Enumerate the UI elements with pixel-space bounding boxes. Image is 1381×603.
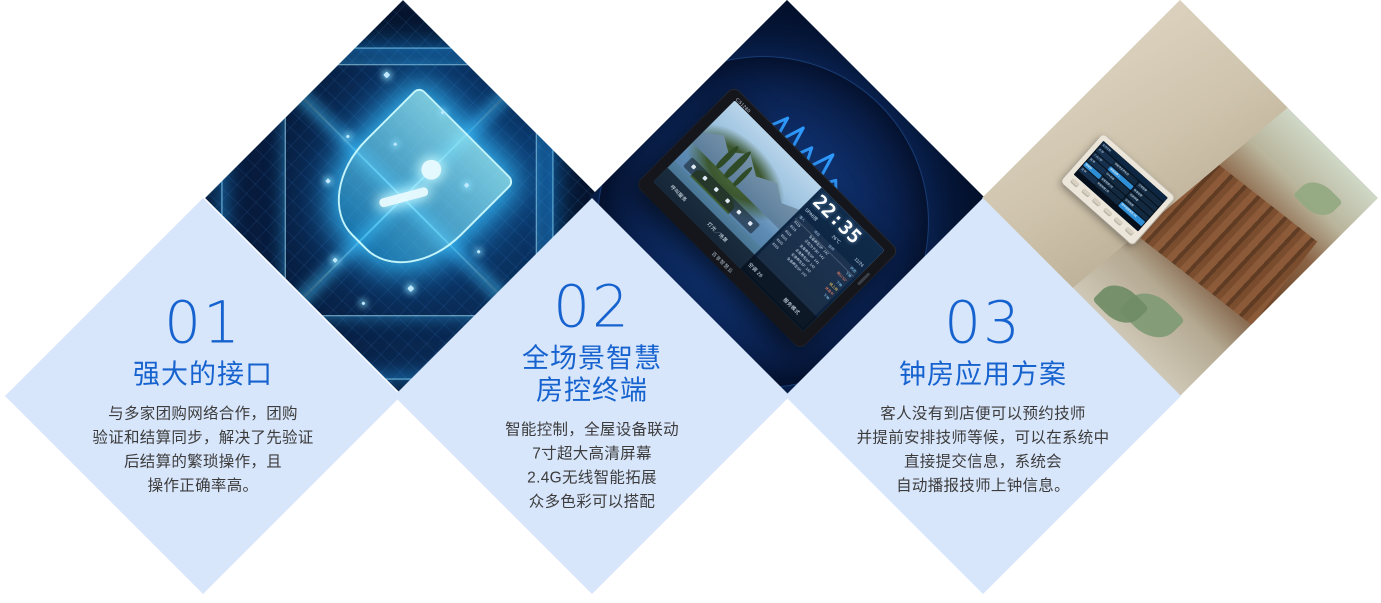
body-line: 7寸超大高清屏幕 <box>427 442 757 466</box>
panel-body-03: 客人没有到店便可以预约技师 并提前安排技师等候，可以在系统中 直接提交信息，系统… <box>818 402 1148 498</box>
body-line: 验证和结算同步，解决了先验证 <box>38 426 368 450</box>
panel-heading-03: 钟房应用方案 <box>818 360 1148 392</box>
panel-heading-01: 强大的接口 <box>38 360 368 392</box>
body-line: 与多家团购网络合作，团购 <box>38 402 368 426</box>
tab-service-mode[interactable]: 服务模式 <box>782 296 802 316</box>
body-line: 并提前安排技师等候，可以在系统中 <box>818 426 1148 450</box>
tab-air-conditioner[interactable]: 空调 26 <box>747 261 765 279</box>
diamond-collage: CS1280 22: <box>0 0 1381 603</box>
body-line: 后结算的繁琐操作，且 <box>38 450 368 474</box>
body-line: 客人没有到店便可以预约技师 <box>818 402 1148 426</box>
body-line: 智能控制，全屋设备联动 <box>427 418 757 442</box>
body-line: 操作正确率高。 <box>38 474 368 498</box>
body-line: 自动播报技师上钟信息。 <box>818 474 1148 498</box>
body-line: 直接提交信息，系统会 <box>818 450 1148 474</box>
heading-line: 全场景智慧 <box>427 344 757 376</box>
tab-call-service[interactable]: 呼叫服务 <box>669 183 689 203</box>
panel-body-01: 与多家团购网络合作，团购 验证和结算同步，解决了先验证 后结算的繁琐操作，且 操… <box>38 402 368 498</box>
body-line: 2.4G无线智能拓展 <box>427 466 757 490</box>
panel-body-02: 智能控制，全屋设备联动 7寸超大高清屏幕 2.4G无线智能拓展 众多色彩可以搭配 <box>427 418 757 514</box>
body-line: 众多色彩可以搭配 <box>427 490 757 514</box>
heading-line: 房控终端 <box>427 375 757 407</box>
panel-heading-02: 全场景智慧 房控终端 <box>427 344 757 408</box>
